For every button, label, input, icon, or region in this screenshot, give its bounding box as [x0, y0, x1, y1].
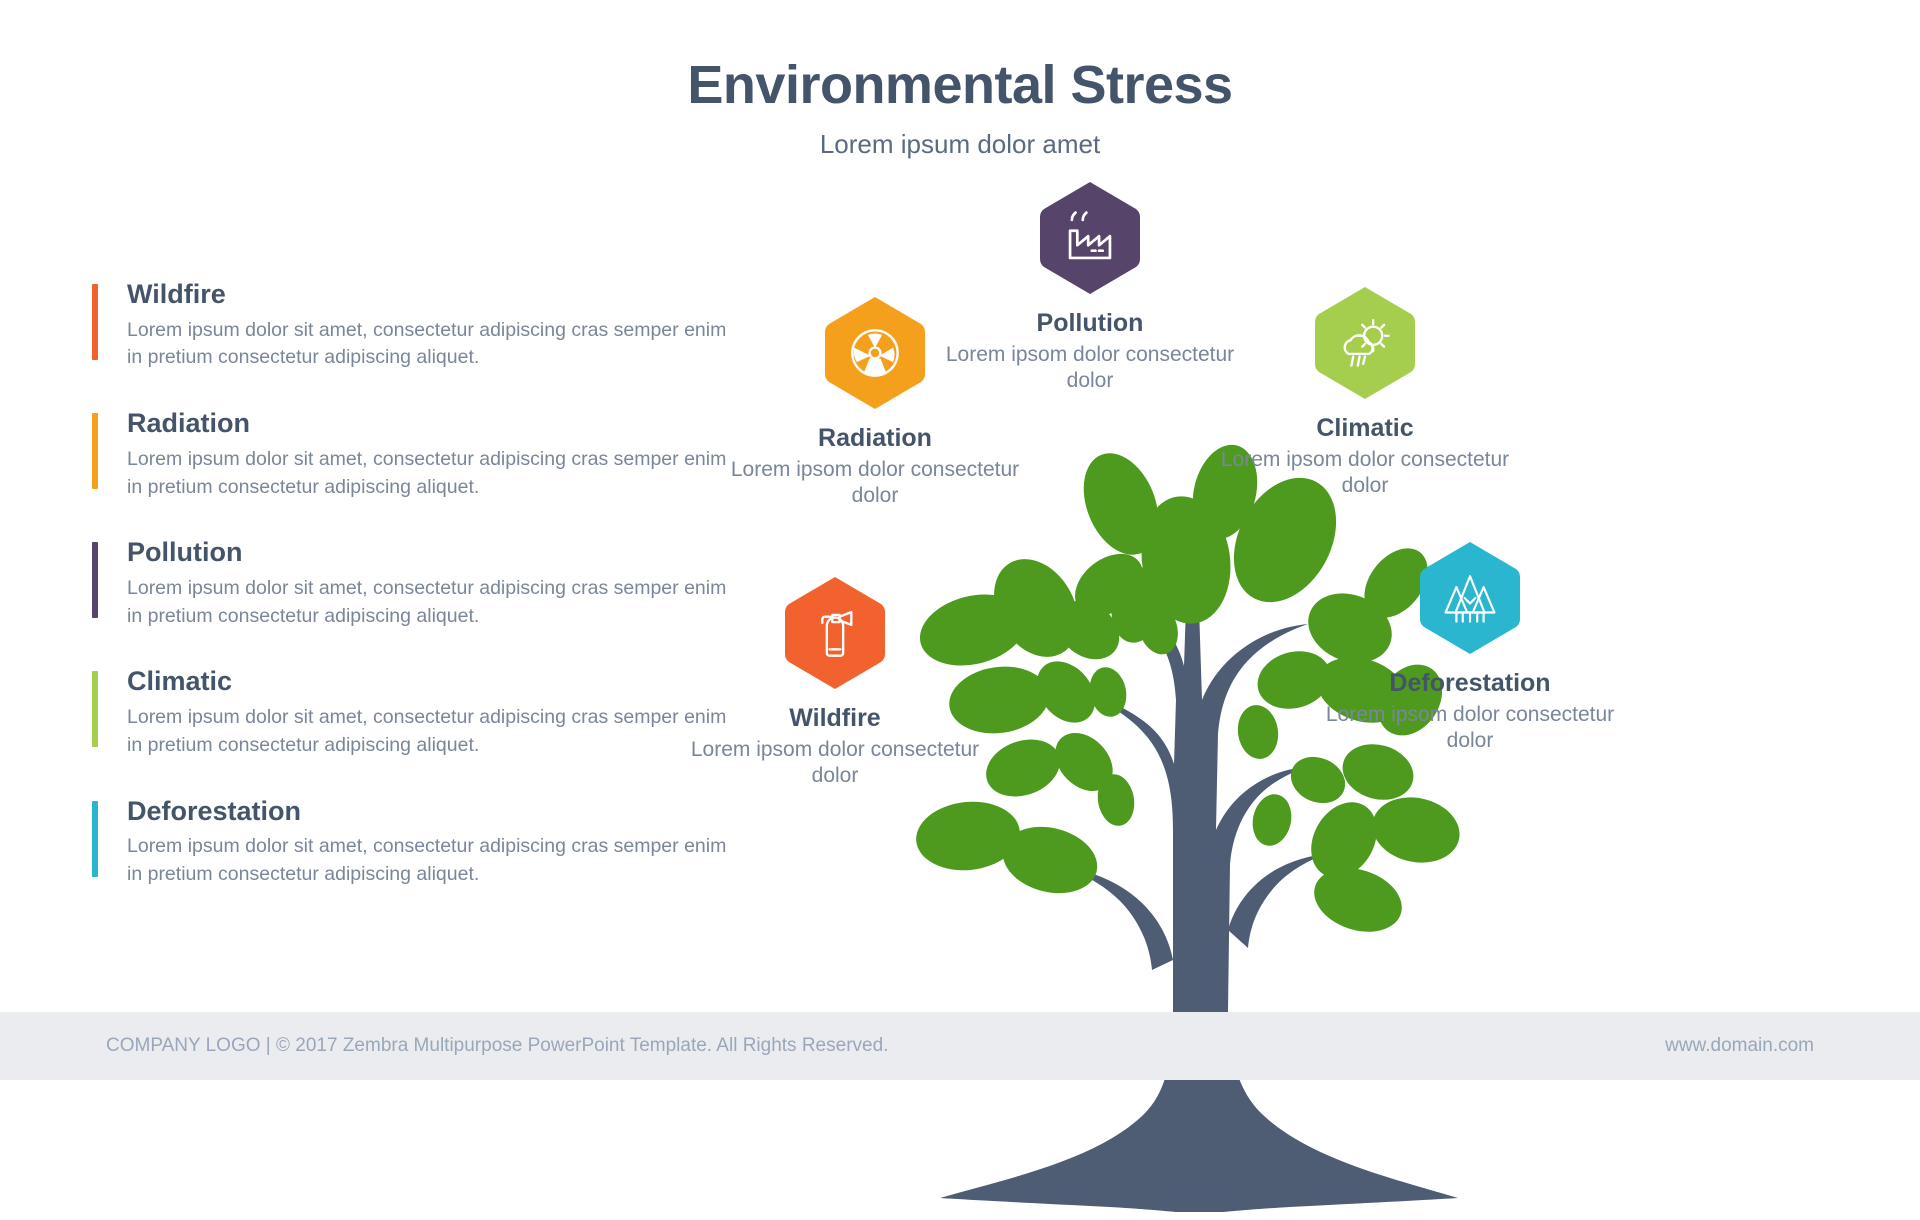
page-title: Environmental Stress: [0, 56, 1920, 115]
accent-bar: [92, 413, 98, 489]
node-description: Lorem ipsom dolor consectetur dolor: [1305, 702, 1635, 755]
feature-title: Climatic: [127, 665, 752, 699]
accent-bar: [92, 284, 98, 360]
feature-description: Lorem ipsum dolor sit amet, consectetur …: [127, 833, 727, 888]
diagram-node-radiation[interactable]: Radiation Lorem ipsom dolor consectetur …: [725, 295, 1025, 510]
pine-trees-icon: [1441, 569, 1499, 627]
node-title: Radiation: [725, 423, 1025, 453]
feature-title: Deforestation: [127, 795, 752, 829]
diagram-node-wildfire[interactable]: Wildfire Lorem ipsom dolor consectetur d…: [685, 575, 985, 790]
feature-description: Lorem ipsum dolor sit amet, consectetur …: [127, 446, 727, 501]
tree-illustration: [880, 400, 1500, 1220]
hex-badge[interactable]: [783, 575, 887, 691]
accent-bar: [92, 801, 98, 877]
accent-bar: [92, 542, 98, 618]
feature-item-wildfire[interactable]: Wildfire Lorem ipsum dolor sit amet, con…: [92, 278, 752, 372]
node-description: Lorem ipsom dolor consectetur dolor: [1215, 447, 1515, 500]
node-description: Lorem ipsom dolor consectetur dolor: [725, 457, 1025, 510]
feature-list: Wildfire Lorem ipsum dolor sit amet, con…: [92, 278, 752, 924]
diagram-node-deforestation[interactable]: Deforestation Lorem ipsom dolor consecte…: [1305, 540, 1635, 755]
feature-description: Lorem ipsum dolor sit amet, consectetur …: [127, 317, 727, 372]
page-subtitle: Lorem ipsum dolor amet: [0, 129, 1920, 160]
footer-copyright: COMPANY LOGO | © 2017 Zembra Multipurpos…: [106, 1035, 888, 1057]
node-title: Wildfire: [685, 703, 985, 733]
diagram-node-climatic[interactable]: Climatic Lorem ipsom dolor consectetur d…: [1215, 285, 1515, 500]
footer-website[interactable]: www.domain.com: [1665, 1035, 1814, 1057]
node-description: Lorem ipsom dolor consectetur dolor: [685, 737, 985, 790]
feature-title: Wildfire: [127, 278, 752, 312]
tree-diagram: Pollution Lorem ipsom dolor consectetur …: [760, 180, 1920, 1060]
node-title: Climatic: [1215, 413, 1515, 443]
fire-extinguisher-icon: [806, 604, 864, 662]
node-title: Deforestation: [1305, 668, 1635, 698]
feature-item-pollution[interactable]: Pollution Lorem ipsum dolor sit amet, co…: [92, 536, 752, 630]
hex-badge[interactable]: [1418, 540, 1522, 656]
slide-footer: COMPANY LOGO | © 2017 Zembra Multipurpos…: [0, 1012, 1920, 1080]
hex-badge[interactable]: [1038, 180, 1142, 296]
feature-item-deforestation[interactable]: Deforestation Lorem ipsum dolor sit amet…: [92, 795, 752, 889]
slide-header: Environmental Stress Lorem ipsum dolor a…: [0, 56, 1920, 160]
feature-title: Radiation: [127, 407, 752, 441]
hex-badge[interactable]: [1313, 285, 1417, 401]
factory-icon: [1061, 209, 1119, 267]
feature-description: Lorem ipsum dolor sit amet, consectetur …: [127, 704, 727, 759]
sun-rain-cloud-icon: [1336, 314, 1394, 372]
radiation-icon: [846, 324, 904, 382]
accent-bar: [92, 671, 98, 747]
feature-title: Pollution: [127, 536, 752, 570]
feature-item-radiation[interactable]: Radiation Lorem ipsum dolor sit amet, co…: [92, 407, 752, 501]
hex-badge[interactable]: [823, 295, 927, 411]
feature-item-climatic[interactable]: Climatic Lorem ipsum dolor sit amet, con…: [92, 665, 752, 759]
feature-description: Lorem ipsum dolor sit amet, consectetur …: [127, 575, 727, 630]
